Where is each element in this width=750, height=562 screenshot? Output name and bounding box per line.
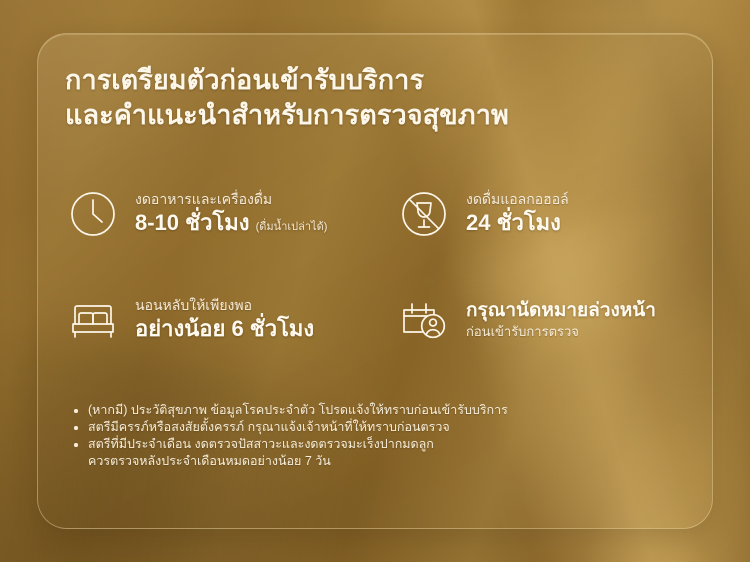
feature-fasting-value: 8-10 ชั่วโมง (ดื่มน้ำเปล่าได้) bbox=[135, 209, 327, 237]
bed-icon bbox=[65, 292, 121, 348]
notes-list: (หากมี) ประวัติสุขภาพ ข้อมูลโรคประจำตัว … bbox=[70, 402, 670, 470]
feature-sleep-label: นอนหลับให้เพียงพอ bbox=[135, 296, 314, 315]
note-text: สตรีที่มีประจำเดือน งดตรวจปัสสาวะและงดตร… bbox=[88, 437, 434, 451]
bullet-dot-icon bbox=[74, 426, 78, 430]
poster-canvas: การเตรียมตัวก่อนเข้ารับบริการ และคำแนะนำ… bbox=[0, 0, 750, 562]
note-text-continued: ควรตรวจหลังประจำเดือนหมดอย่างน้อย 7 วัน bbox=[88, 453, 670, 470]
note-text: สตรีมีครรภ์หรือสงสัยตั้งครรภ์ กรุณาแจ้งเ… bbox=[88, 420, 450, 434]
list-item: สตรีมีครรภ์หรือสงสัยตั้งครรภ์ กรุณาแจ้งเ… bbox=[70, 419, 670, 436]
feature-appointment-value: กรุณานัดหมายล่วงหน้า bbox=[466, 299, 656, 323]
calendar-person-icon bbox=[396, 292, 452, 348]
bullet-dot-icon bbox=[74, 443, 78, 447]
feature-sleep: นอนหลับให้เพียงพอ อย่างน้อย 6 ชั่วโมง bbox=[65, 292, 314, 348]
feature-sleep-value: อย่างน้อย 6 ชั่วโมง bbox=[135, 315, 314, 343]
list-item: สตรีที่มีประจำเดือน งดตรวจปัสสาวะและงดตร… bbox=[70, 436, 670, 470]
feature-no-alcohol: งดดื่มแอลกอฮอล์ 24 ชั่วโมง bbox=[396, 186, 569, 242]
clock-icon bbox=[65, 186, 121, 242]
feature-fasting-value-main: 8-10 ชั่วโมง bbox=[135, 210, 250, 235]
list-item: (หากมี) ประวัติสุขภาพ ข้อมูลโรคประจำตัว … bbox=[70, 402, 670, 419]
feature-appointment-label: ก่อนเข้ารับการตรวจ bbox=[466, 323, 656, 341]
feature-no-alcohol-value: 24 ชั่วโมง bbox=[466, 209, 569, 237]
feature-fasting-text: งดอาหารและเครื่องดื่ม 8-10 ชั่วโมง (ดื่ม… bbox=[135, 190, 327, 237]
bullet-dot-icon bbox=[74, 409, 78, 413]
note-text: (หากมี) ประวัติสุขภาพ ข้อมูลโรคประจำตัว … bbox=[88, 403, 508, 417]
no-alcohol-icon bbox=[396, 186, 452, 242]
feature-appointment-text: กรุณานัดหมายล่วงหน้า ก่อนเข้ารับการตรวจ bbox=[466, 299, 656, 341]
glass-info-card: การเตรียมตัวก่อนเข้ารับบริการ และคำแนะนำ… bbox=[37, 33, 713, 529]
feature-fasting: งดอาหารและเครื่องดื่ม 8-10 ชั่วโมง (ดื่ม… bbox=[65, 186, 327, 242]
feature-fasting-label: งดอาหารและเครื่องดื่ม bbox=[135, 190, 327, 209]
feature-no-alcohol-text: งดดื่มแอลกอฮอล์ 24 ชั่วโมง bbox=[466, 190, 569, 237]
feature-sleep-text: นอนหลับให้เพียงพอ อย่างน้อย 6 ชั่วโมง bbox=[135, 296, 314, 343]
page-title-line-2: และคำแนะนำสำหรับการตรวจสุขภาพ bbox=[65, 98, 509, 133]
page-title: การเตรียมตัวก่อนเข้ารับบริการ และคำแนะนำ… bbox=[65, 63, 509, 133]
feature-no-alcohol-label: งดดื่มแอลกอฮอล์ bbox=[466, 190, 569, 209]
page-title-line-1: การเตรียมตัวก่อนเข้ารับบริการ bbox=[65, 63, 509, 98]
feature-appointment: กรุณานัดหมายล่วงหน้า ก่อนเข้ารับการตรวจ bbox=[396, 292, 656, 348]
feature-fasting-note: (ดื่มน้ำเปล่าได้) bbox=[256, 221, 328, 233]
